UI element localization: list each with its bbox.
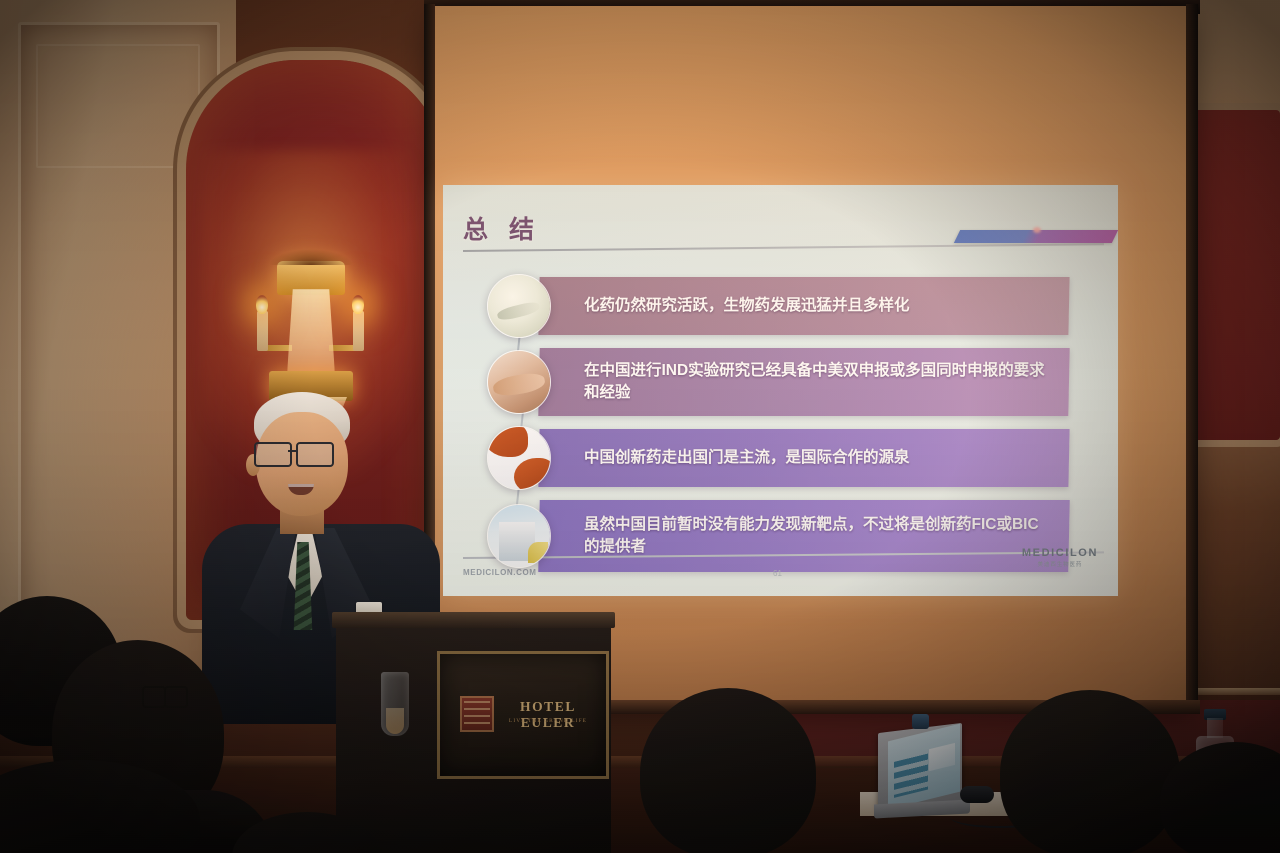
hotel-tagline: LIVE THE GRAND LIFE [496,718,600,724]
flame-right-icon [352,295,364,314]
screen-edge-right [1186,4,1198,706]
bullet-bar: 化药仍然研究活跃，生物药发展迅猛并且多样化 [538,277,1069,335]
sconce-crystal-drops [287,289,335,375]
bullet-text: 化药仍然研究活跃，生物药发展迅猛并且多样化 [539,295,928,317]
slide-footer-website: MEDICILON.COM [463,568,537,577]
bullet-row: 化药仍然研究活跃，生物药发展迅猛并且多样化 [443,277,1118,335]
bullet-bar: 虽然中国目前暂时没有能力发现新靶点，不过将是创新药FIC或BIC的提供者 [538,500,1070,572]
wall-moulding [36,44,200,168]
medicilon-logo: MEDICILON 美迪西生物医药 [1022,547,1098,568]
candle-left [257,311,268,351]
bottle-neck [1207,718,1223,738]
hotel-name: HOTEL EULER [496,699,600,731]
laptop-lid [878,723,962,811]
audience-head [640,688,816,853]
eyeglasses-right-lens-icon [296,442,334,467]
bullet-text: 中国创新药走出国门是主流，是国际合作的源泉 [539,447,928,469]
accent-highlight-dot [1033,227,1041,233]
bullet-bar: 中国创新药走出国门是主流，是国际合作的源泉 [538,429,1069,487]
candle-right [353,311,364,351]
eyeglasses-left-lens-icon [254,442,292,467]
podium-top-surface [332,612,615,628]
title-underline-rule [463,243,1104,252]
facility-building-icon [487,504,551,568]
laptop-screen [888,724,960,810]
bullet-bar: 在中国进行IND实验研究已经具备中美双申报或多国同时申报的要求和经验 [538,348,1069,416]
audience-eyeglasses-icon [142,686,188,706]
flame-left-icon [256,295,268,314]
eyeglasses-bridge [288,450,298,452]
bullet-row: 中国创新药走出国门是主流，是国际合作的源泉 [443,429,1118,487]
podium-hotel-sign: HOTEL EULER LIVE THE GRAND LIFE [437,651,609,779]
bullet-text: 在中国进行IND实验研究已经具备中美双申报或多国同时申报的要求和经验 [539,360,1069,405]
bullet-row: 虽然中国目前暂时没有能力发现新靶点，不过将是创新药FIC或BIC的提供者 [443,500,1118,572]
slide-page-number: 61 [773,569,782,578]
bottle-cap [912,714,929,729]
bullet-rows: 化药仍然研究活跃，生物药发展迅猛并且多样化 在中国进行IND实验研究已经具备中美… [443,277,1118,585]
water-glass [381,672,409,736]
lab-sample-icon [487,274,551,338]
audience-head [1000,690,1180,853]
bullet-row: 在中国进行IND实验研究已经具备中美双申报或多国同时申报的要求和经验 [443,348,1118,416]
handshake-icon [487,350,551,414]
projected-slide: 总 结 化药仍然研究活跃，生物药发展迅猛并且多样化 在中国进行IND实验研究已经… [443,185,1118,596]
capsules-icon [487,426,551,490]
brand-name: MEDICILON [1022,547,1098,559]
slide-title: 总 结 [463,210,541,246]
hotel-emblem-icon [460,696,494,732]
presentation-photo-scene: 总 结 化药仍然研究活跃，生物药发展迅猛并且多样化 在中国进行IND实验研究已经… [0,0,1280,853]
brand-subtitle: 美迪西生物医药 [1022,560,1098,568]
